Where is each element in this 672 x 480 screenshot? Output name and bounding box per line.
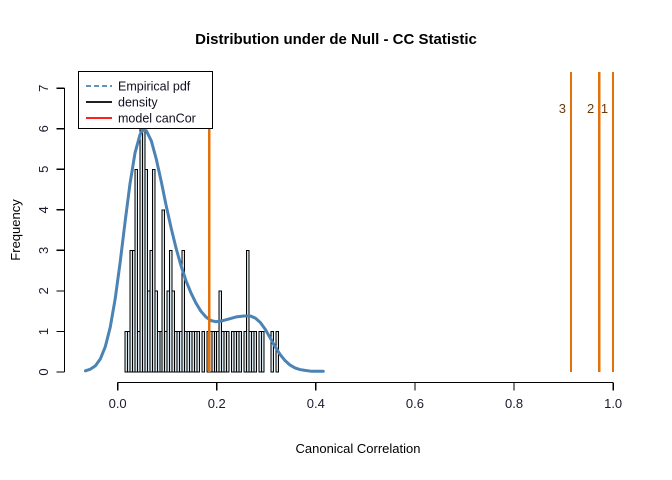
vertical-line-label-2: 2 [587,101,594,116]
y-axis-tick-label: 2 [36,287,51,294]
histogram-bar [239,331,241,372]
legend-label-2: density [118,96,158,110]
cc-statistic-distribution-chart: Distribution under de Null - CC Statisti… [0,0,672,480]
x-axis-tick-label: 0.8 [505,396,523,411]
x-axis-tick-label: 0.2 [208,396,226,411]
y-axis-tick-label: 4 [36,206,51,213]
y-axis-label: Frequency [8,199,23,261]
x-axis-tick-label: 1.0 [604,396,622,411]
histogram-bar [197,331,199,372]
histogram-bar [254,331,256,372]
y-axis-tick-label: 7 [36,85,51,92]
chart-legend: Empirical pdfdensitymodel canCor [79,72,213,129]
vertical-line-label-3: 3 [559,101,566,116]
y-axis-tick-label: 0 [36,368,51,375]
histogram-bar [202,331,204,372]
y-axis-tick-label: 3 [36,247,51,254]
x-axis-label: Canonical Correlation [295,441,420,456]
vertical-line-label-1: 1 [601,101,608,116]
legend-label-3: model canCor [118,112,196,126]
histogram-bar [261,331,263,372]
y-axis-tick-label: 1 [36,328,51,335]
legend-label-1: Empirical pdf [118,80,191,94]
y-axis-tick-label: 5 [36,166,51,173]
chart-title: Distribution under de Null - CC Statisti… [195,31,477,48]
y-axis-tick-label: 6 [36,125,51,132]
histogram-bar [227,331,229,372]
chart-canvas: Distribution under de Null - CC Statisti… [0,0,672,480]
x-axis-tick-label: 0.0 [109,396,127,411]
x-axis-tick-label: 0.6 [406,396,424,411]
x-axis-tick-label: 0.4 [307,396,325,411]
